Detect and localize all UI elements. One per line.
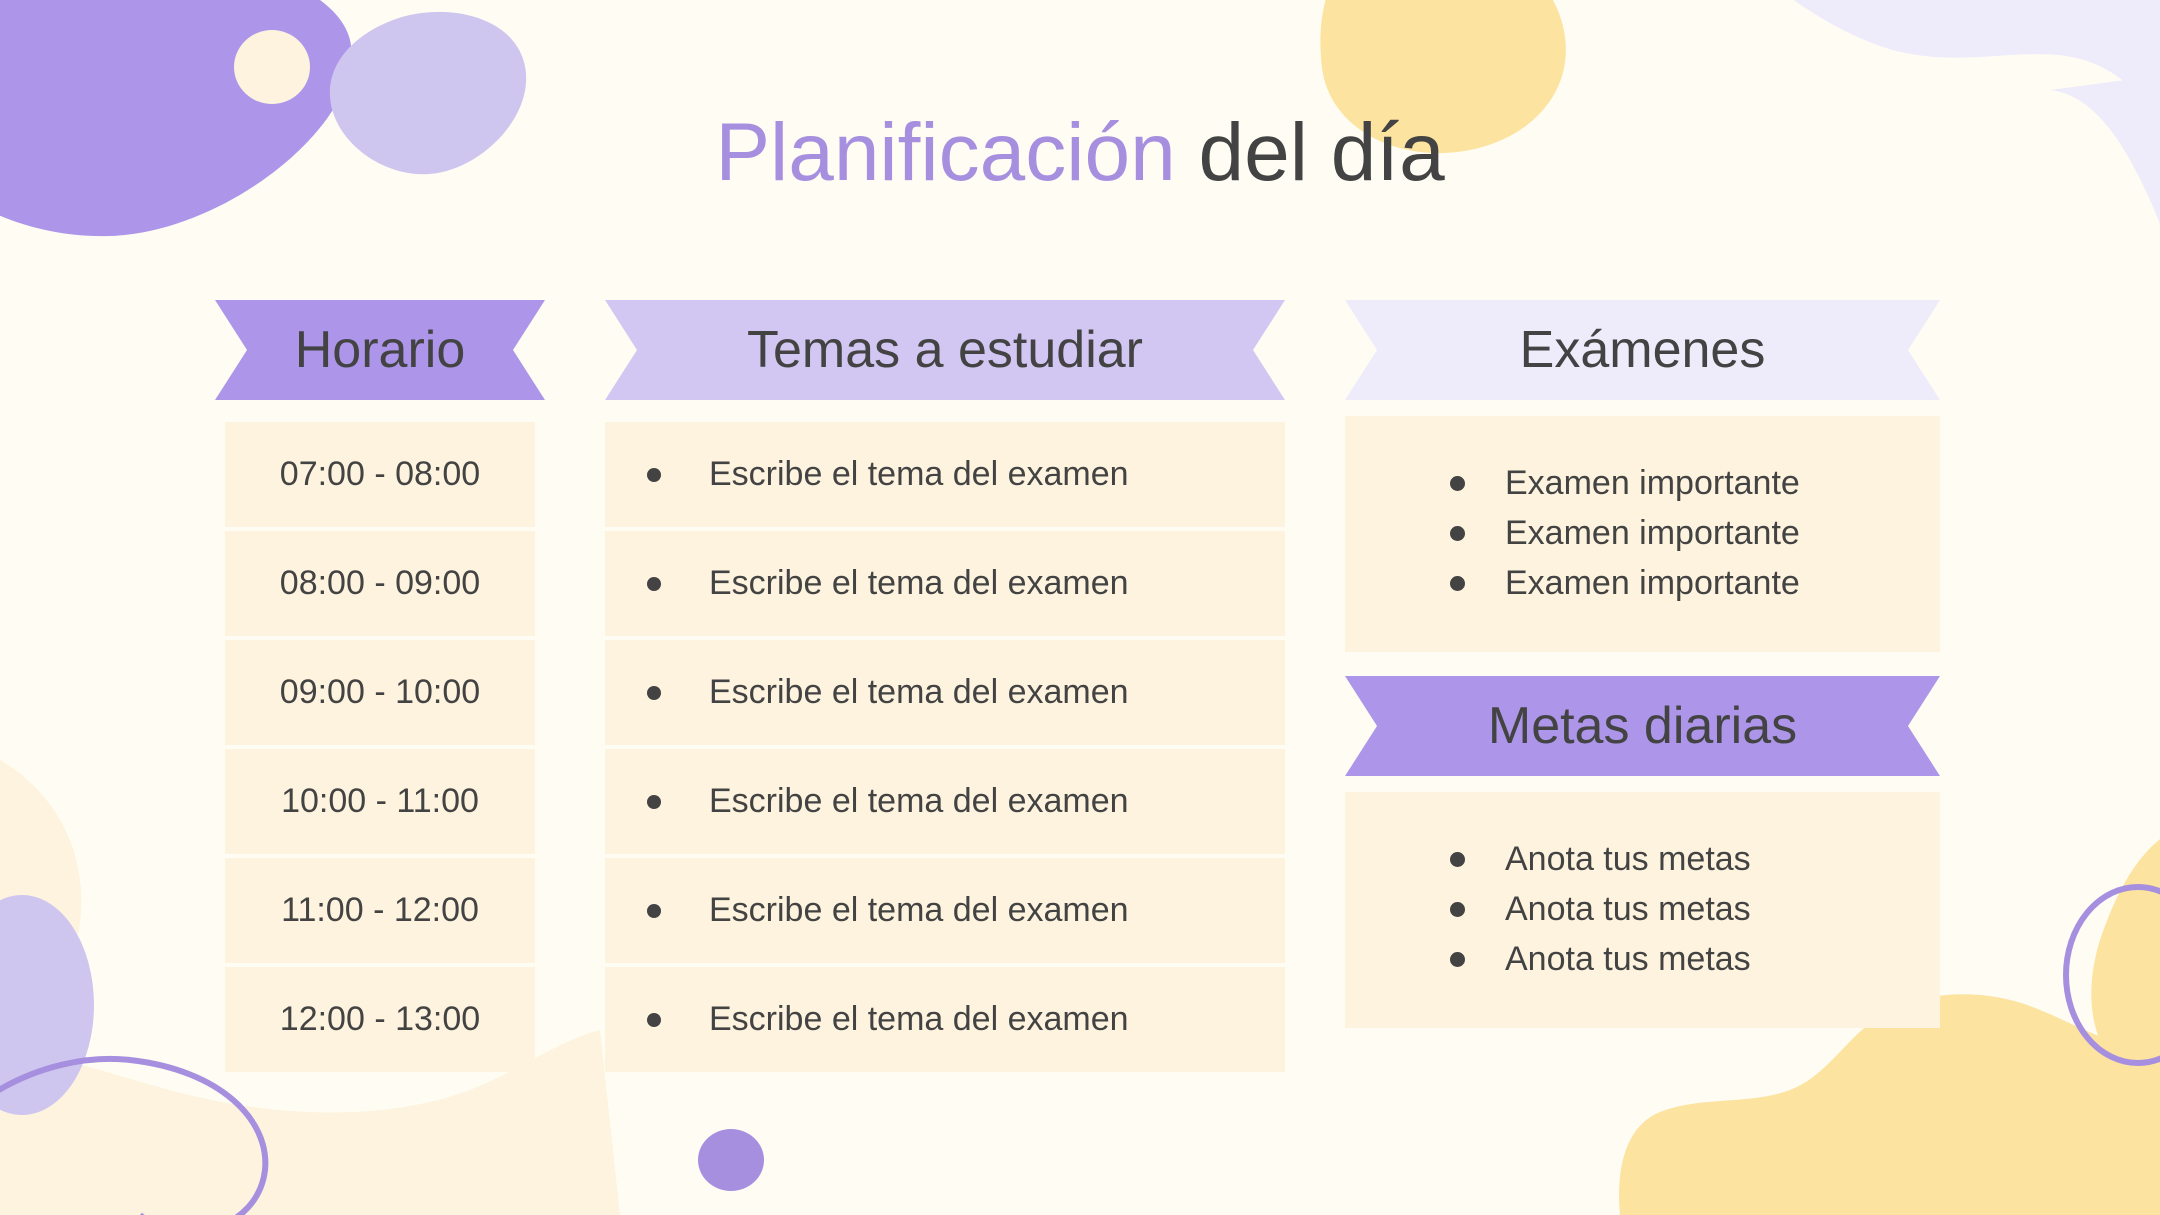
topic-item[interactable]: Escribe el tema del examen [605, 967, 1285, 1072]
banner-horario-label: Horario [295, 324, 466, 376]
bullet-icon [647, 577, 661, 591]
goal-item-label: Anota tus metas [1505, 892, 1751, 926]
topic-item[interactable]: Escribe el tema del examen [605, 422, 1285, 527]
schedule-slot[interactable]: 09:00 - 10:00 [225, 640, 535, 745]
exam-list: Examen importante Examen importante Exam… [1345, 416, 1940, 652]
bullet-icon [1450, 852, 1465, 867]
bullet-icon [647, 1013, 661, 1027]
banner-metas: Metas diarias [1345, 676, 1940, 776]
topic-item[interactable]: Escribe el tema del examen [605, 749, 1285, 854]
column-schedule: Horario 07:00 - 08:00 08:00 - 09:00 09:0… [215, 300, 545, 1072]
goal-item[interactable]: Anota tus metas [1345, 834, 1940, 884]
goal-list: Anota tus metas Anota tus metas Anota tu… [1345, 792, 1940, 1028]
column-exams-goals: Exámenes Examen importante Examen import… [1345, 300, 1940, 1028]
topic-item-label: Escribe el tema del examen [709, 564, 1129, 603]
bullet-icon [1450, 526, 1465, 541]
topic-item-label: Escribe el tema del examen [709, 673, 1129, 712]
banner-temas-label: Temas a estudiar [747, 324, 1143, 376]
bullet-icon [647, 795, 661, 809]
topic-item-label: Escribe el tema del examen [709, 1000, 1129, 1039]
exam-item-label: Examen importante [1505, 566, 1800, 600]
bullet-icon [1450, 952, 1465, 967]
bullet-icon [647, 468, 661, 482]
schedule-slot-list: 07:00 - 08:00 08:00 - 09:00 09:00 - 10:0… [215, 422, 545, 1072]
bullet-icon [1450, 902, 1465, 917]
exam-item-label: Examen importante [1505, 466, 1800, 500]
page-title: Planificación del día [0, 112, 2160, 194]
banner-horario: Horario [215, 300, 545, 400]
goal-item-label: Anota tus metas [1505, 842, 1751, 876]
page-title-accent: Planificación [715, 107, 1175, 198]
schedule-slot[interactable]: 12:00 - 13:00 [225, 967, 535, 1072]
bullet-icon [1450, 476, 1465, 491]
topic-item[interactable]: Escribe el tema del examen [605, 531, 1285, 636]
goal-item[interactable]: Anota tus metas [1345, 884, 1940, 934]
exam-item[interactable]: Examen importante [1345, 458, 1940, 508]
bullet-icon [647, 686, 661, 700]
column-topics: Temas a estudiar Escribe el tema del exa… [605, 300, 1285, 1072]
slide-content: Planificación del día Horario 07:00 - 08… [0, 0, 2160, 1215]
goal-item[interactable]: Anota tus metas [1345, 934, 1940, 984]
exam-item[interactable]: Examen importante [1345, 508, 1940, 558]
exam-item[interactable]: Examen importante [1345, 558, 1940, 608]
bullet-icon [1450, 576, 1465, 591]
topic-item-label: Escribe el tema del examen [709, 782, 1129, 821]
schedule-slot[interactable]: 11:00 - 12:00 [225, 858, 535, 963]
schedule-slot[interactable]: 10:00 - 11:00 [225, 749, 535, 854]
banner-examenes-label: Exámenes [1520, 324, 1766, 376]
topic-list: Escribe el tema del examen Escribe el te… [605, 422, 1285, 1072]
topic-item[interactable]: Escribe el tema del examen [605, 858, 1285, 963]
topic-item-label: Escribe el tema del examen [709, 455, 1129, 494]
banner-temas: Temas a estudiar [605, 300, 1285, 400]
banner-examenes: Exámenes [1345, 300, 1940, 400]
schedule-slot[interactable]: 07:00 - 08:00 [225, 422, 535, 527]
banner-metas-label: Metas diarias [1488, 700, 1797, 752]
topic-item-label: Escribe el tema del examen [709, 891, 1129, 930]
topic-item[interactable]: Escribe el tema del examen [605, 640, 1285, 745]
exam-item-label: Examen importante [1505, 516, 1800, 550]
schedule-slot[interactable]: 08:00 - 09:00 [225, 531, 535, 636]
bullet-icon [647, 904, 661, 918]
page-title-plain: del día [1198, 107, 1444, 198]
goal-item-label: Anota tus metas [1505, 942, 1751, 976]
